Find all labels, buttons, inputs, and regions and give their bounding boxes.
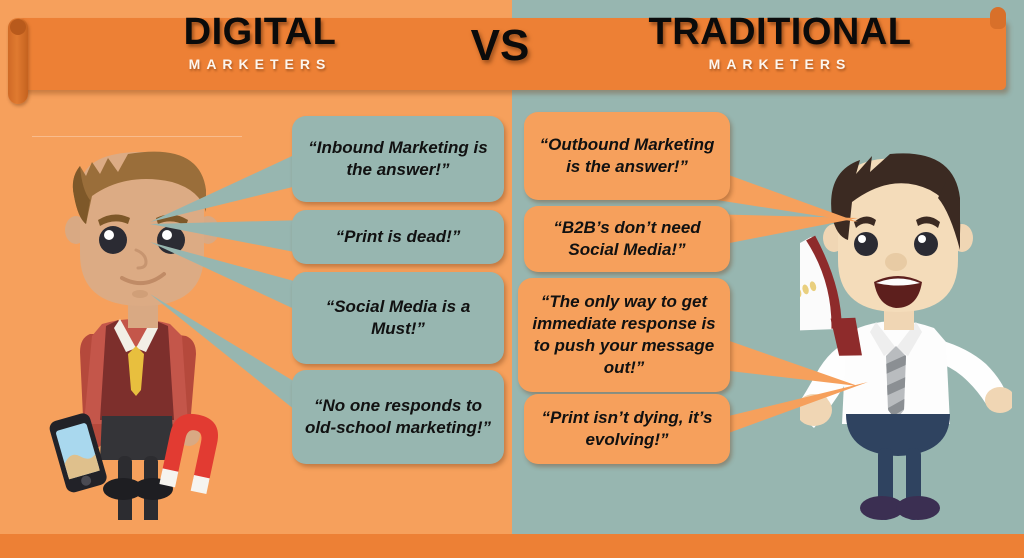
- header-subtitle-traditional: MARKETERS: [580, 56, 980, 72]
- header-versus-label: VS: [440, 22, 560, 70]
- bubble-right-3[interactable]: “The only way to get immediate response …: [518, 278, 730, 392]
- bubble-right-2[interactable]: “B2B’s don’t need Social Media!”: [524, 206, 730, 272]
- bubble-tail-left-4: [150, 290, 310, 420]
- bubble-left-4-text: “No one responds to old-school marketing…: [304, 395, 492, 439]
- bubble-left-1-text: “Inbound Marketing is the answer!”: [304, 137, 492, 181]
- bubble-left-3[interactable]: “Social Media is a Must!”: [292, 272, 504, 364]
- bubble-left-3-text: “Social Media is a Must!”: [304, 296, 492, 340]
- bubble-right-1-text: “Outbound Marketing is the answer!”: [536, 134, 718, 178]
- banner-scroll-right-tab: [990, 7, 1006, 29]
- infographic-canvas: “Inbound Marketing is the answer!” “Prin…: [0, 0, 1024, 558]
- header-subtitle-digital: MARKETERS: [80, 56, 440, 72]
- bubble-right-1[interactable]: “Outbound Marketing is the answer!”: [524, 112, 730, 200]
- bubble-left-2[interactable]: “Print is dead!”: [292, 210, 504, 264]
- header-title-traditional: TRADITIONAL: [580, 12, 980, 52]
- bubble-right-4-text: “Print isn’t dying, it’s evolving!”: [536, 407, 718, 451]
- decorative-hairline: [32, 136, 242, 137]
- bubble-left-4[interactable]: “No one responds to old-school marketing…: [292, 370, 504, 464]
- bubble-right-3-text: “The only way to get immediate response …: [530, 291, 718, 379]
- bottom-accent-strip: [0, 534, 1024, 558]
- bubble-left-1[interactable]: “Inbound Marketing is the answer!”: [292, 116, 504, 202]
- bubble-left-2-text: “Print is dead!”: [336, 226, 461, 248]
- bubble-right-2-text: “B2B’s don’t need Social Media!”: [536, 217, 718, 261]
- header-title-digital: DIGITAL: [80, 12, 440, 52]
- bubble-right-4[interactable]: “Print isn’t dying, it’s evolving!”: [524, 394, 730, 464]
- banner-scroll-left-cap: [10, 19, 26, 35]
- header-banner: DIGITAL MARKETERS VS TRADITIONAL MARKETE…: [0, 0, 1024, 104]
